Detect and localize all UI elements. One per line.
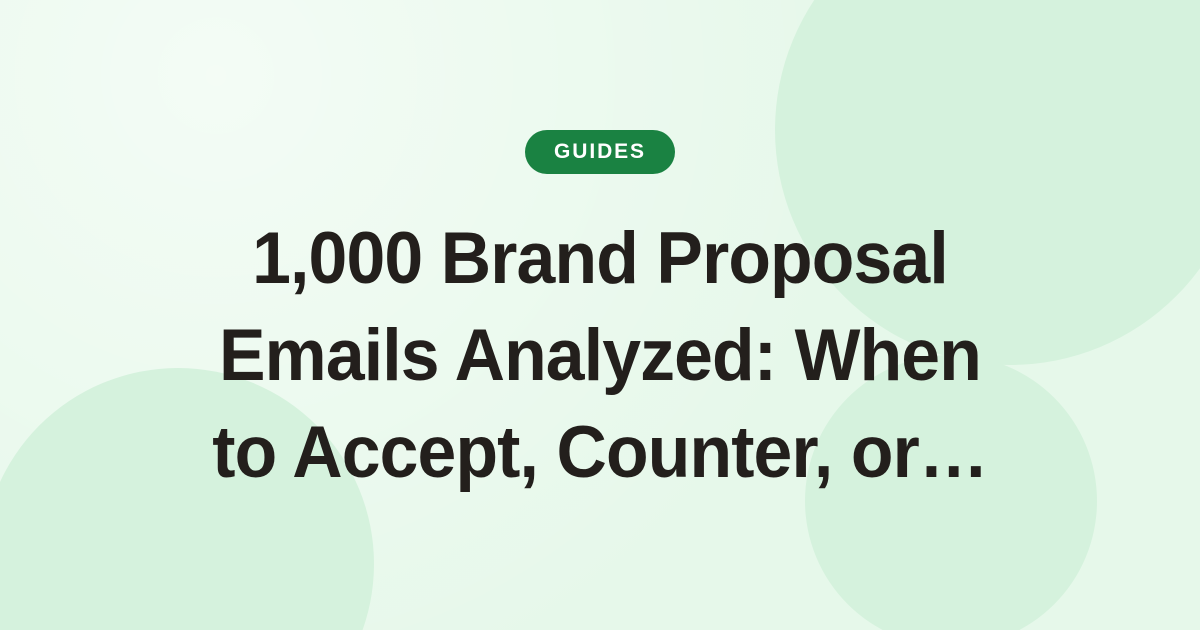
card-content: GUIDES 1,000 Brand Proposal Emails Analy… bbox=[0, 0, 1200, 630]
page-title: 1,000 Brand Proposal Emails Analyzed: Wh… bbox=[204, 210, 997, 501]
category-badge: GUIDES bbox=[525, 130, 675, 174]
open-graph-card: GUIDES 1,000 Brand Proposal Emails Analy… bbox=[0, 0, 1200, 630]
